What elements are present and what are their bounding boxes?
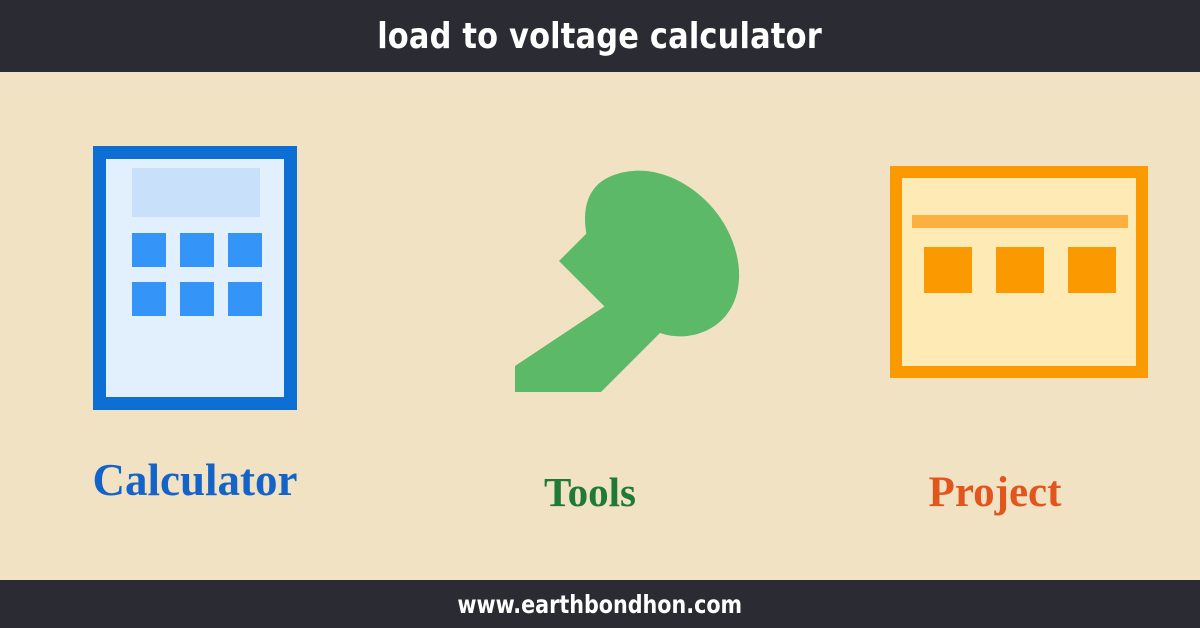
project-board-block xyxy=(996,247,1044,293)
project-board-bar xyxy=(912,215,1128,228)
project-board-body xyxy=(902,178,1136,366)
page-root: load to voltage calculator Cal xyxy=(0,0,1200,628)
project-board-icon[interactable] xyxy=(890,166,1148,378)
calculator-key[interactable] xyxy=(228,282,262,316)
calculator-key[interactable] xyxy=(132,282,166,316)
card-caption-project: Project xyxy=(790,468,1200,517)
calculator-keypad[interactable] xyxy=(132,233,262,330)
card-calculator[interactable]: Calculator xyxy=(0,72,390,580)
card-caption-calculator: Calculator xyxy=(0,454,390,506)
hammer-tool-icon[interactable] xyxy=(505,167,745,392)
header-bar: load to voltage calculator xyxy=(0,0,1200,72)
card-tools[interactable]: Tools xyxy=(390,72,790,580)
card-caption-tools: Tools xyxy=(390,468,790,516)
calculator-body xyxy=(106,159,284,397)
footer-url: www.earthbondhon.com xyxy=(458,590,743,619)
page-title: load to voltage calculator xyxy=(378,16,823,57)
calculator-key[interactable] xyxy=(180,233,214,267)
calculator-key[interactable] xyxy=(180,282,214,316)
project-board-block xyxy=(1068,247,1116,293)
calculator-display xyxy=(132,168,260,217)
calculator-key[interactable] xyxy=(228,233,262,267)
project-board-block xyxy=(924,247,972,293)
calculator-icon[interactable] xyxy=(93,146,297,410)
main-content: Calculator Tools xyxy=(0,72,1200,580)
footer-bar: www.earthbondhon.com xyxy=(0,580,1200,628)
card-project[interactable]: Project xyxy=(790,72,1200,580)
calculator-key[interactable] xyxy=(132,233,166,267)
